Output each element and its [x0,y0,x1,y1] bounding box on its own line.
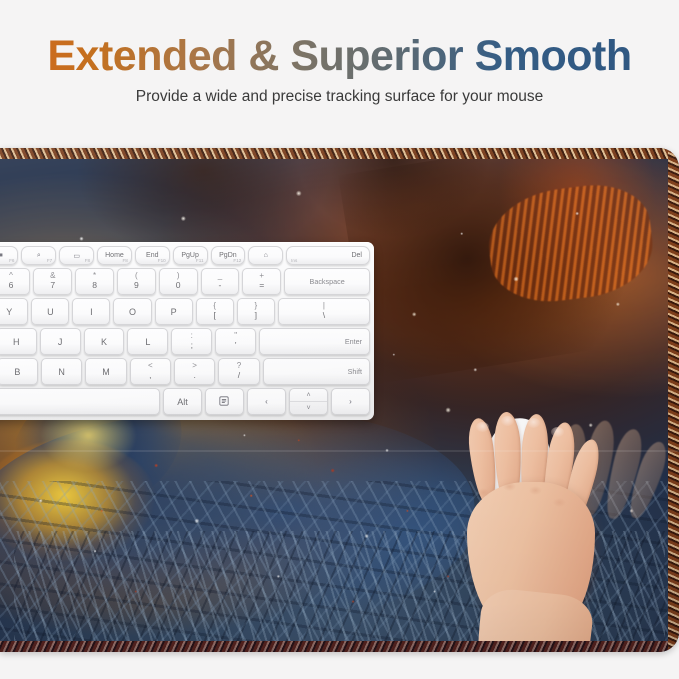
key-end[interactable]: End F10 [135,246,170,265]
key-y[interactable]: Y [0,298,28,325]
key-lock[interactable]: ⌂ [248,246,283,265]
lock-icon: ⌂ [264,252,268,259]
stop-icon: ⏹ [0,252,3,260]
key-p[interactable]: P [155,298,193,325]
key-b[interactable]: B [0,358,38,385]
artwork-photo-band [0,450,679,452]
chevron-right-icon: › [349,397,352,406]
context-menu-icon [219,396,229,408]
key-l[interactable]: L [127,328,168,355]
chevron-left-icon: ‹ [265,397,268,406]
knuckle [553,498,566,507]
key-equals[interactable]: + = [242,268,281,295]
key-6[interactable]: ^ 6 [0,268,30,295]
key-search[interactable]: ⌕ F7 [21,246,56,265]
search-icon: ⌕ [37,252,41,260]
key-stop[interactable]: ⏹ F6 [0,246,18,265]
key-enter[interactable]: Enter [259,328,370,355]
key-pgdn[interactable]: PgDn F12 [211,246,246,265]
key-m[interactable]: M [85,358,126,385]
key-u[interactable]: U [31,298,69,325]
key-space[interactable] [0,388,160,415]
key-window[interactable]: ▭ F8 [59,246,94,265]
keyboard-space-row: Alt ‹ ˄ ˅ [0,388,370,415]
key-comma[interactable]: < , [130,358,171,385]
key-pgup[interactable]: PgUp F11 [173,246,208,265]
key-semicolon[interactable]: : ; [171,328,212,355]
key-slash[interactable]: ? / [218,358,259,385]
fingernail [476,422,489,432]
key-o[interactable]: O [113,298,151,325]
key-bracket-right[interactable]: } ] [237,298,275,325]
key-arrow-up-down-stack[interactable]: ˄ ˅ [289,388,328,415]
chevron-up-icon: ˄ [306,392,310,399]
page-subtitle: Provide a wide and precise tracking surf… [0,88,679,106]
key-backslash[interactable]: | \ [278,298,370,325]
keyboard-qwerty-row: R T Y U I O P { [ } ] | \ [0,298,370,325]
promo-header: Extended & Superior Smooth Provide a wid… [0,0,679,148]
key-backspace[interactable]: Backspace [284,268,370,295]
key-delete[interactable]: Del Ins [286,246,370,265]
key-context-menu[interactable] [205,388,244,415]
key-arrow-left[interactable]: ‹ [247,388,286,415]
window-icon: ▭ [73,252,80,260]
key-8[interactable]: * 8 [75,268,114,295]
key-i[interactable]: I [72,298,110,325]
key-n[interactable]: N [41,358,82,385]
key-arrow-down[interactable]: ˅ [290,402,327,414]
key-0[interactable]: ) 0 [159,268,198,295]
key-home[interactable]: Home F8 [97,246,132,265]
key-j[interactable]: J [40,328,81,355]
keyboard-bottom-row: C V B N M < , > . ? / Shift [0,358,370,385]
key-quote[interactable]: " ' [215,328,256,355]
fingernail [527,418,540,428]
key-shift-right[interactable]: Shift [263,358,370,385]
key-7[interactable]: & 7 [33,268,72,295]
fingernail [551,427,564,437]
mouse-pad-product: ⏭ F4 ⏯ F5 ⏹ F6 ⌕ F7 ▭ F8 Home F8 [0,148,679,652]
key-minus[interactable]: _ - [201,268,240,295]
page-title: Extended & Superior Smooth [0,32,679,81]
key-arrow-up[interactable]: ˄ [290,389,327,402]
keyboard[interactable]: ⏭ F4 ⏯ F5 ⏹ F6 ⌕ F7 ▭ F8 Home F8 [0,242,374,420]
key-h[interactable]: H [0,328,37,355]
chevron-down-icon: ˅ [306,405,310,412]
keyboard-home-row: F G H J K L : ; " ' Enter [0,328,370,355]
fingernail [501,416,514,426]
knuckle [503,482,516,491]
key-arrow-right[interactable]: › [331,388,370,415]
key-k[interactable]: K [84,328,125,355]
key-9[interactable]: ( 9 [117,268,156,295]
keyboard-function-row: ⏭ F4 ⏯ F5 ⏹ F6 ⌕ F7 ▭ F8 Home F8 [0,246,370,265]
key-period[interactable]: > . [174,358,215,385]
keyboard-number-row: $ 4 % 5 ^ 6 & 7 * 8 ( 9 ) 0 _ - [0,268,370,295]
key-bracket-left[interactable]: { [ [196,298,234,325]
knuckle [477,488,490,497]
key-alt-right[interactable]: Alt [163,388,202,415]
knuckle [529,486,542,495]
